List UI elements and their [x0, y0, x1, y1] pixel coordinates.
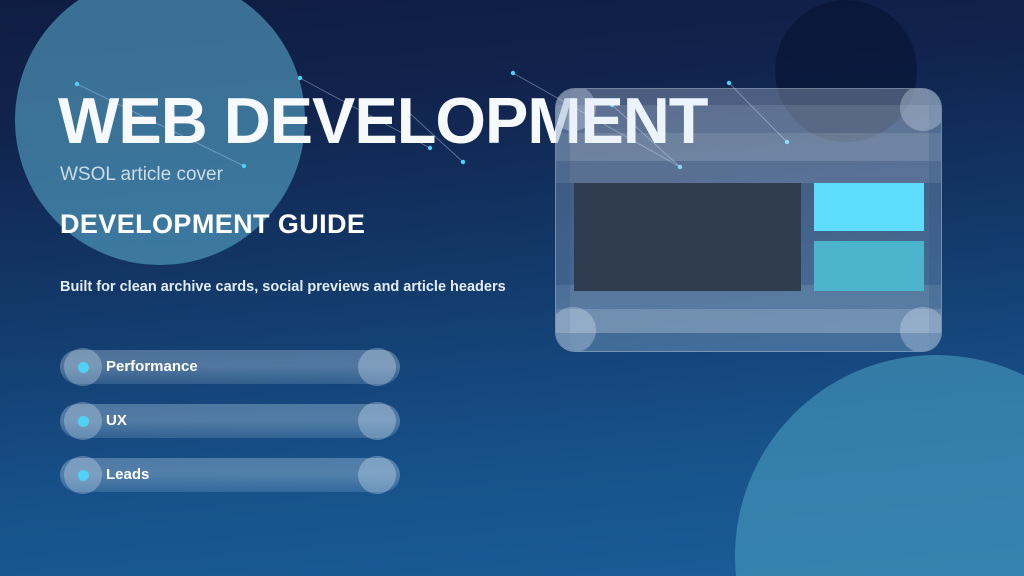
card-band	[556, 333, 942, 352]
card-band	[556, 161, 942, 183]
article-preview-card	[555, 88, 942, 352]
background-circle-bottom-right	[735, 355, 1024, 576]
cover-description: Built for clean archive cards, social pr…	[60, 279, 506, 295]
card-band	[556, 309, 942, 333]
connector-dot-icon	[511, 71, 515, 75]
pill-endcap-icon	[358, 402, 396, 440]
pill-label: UX	[106, 412, 127, 429]
pill-status-dot-icon	[78, 470, 89, 481]
list-item[interactable]: UX	[60, 404, 400, 438]
pill-endcap-icon	[358, 456, 396, 494]
card-band	[556, 89, 942, 105]
card-band	[556, 105, 942, 133]
cover-subtitle: DEVELOPMENT GUIDE	[60, 209, 365, 240]
card-corner-dot-icon	[900, 88, 942, 131]
pill-status-dot-icon	[78, 362, 89, 373]
preview-block-dark	[574, 183, 801, 291]
card-corner-dot-icon	[900, 307, 942, 352]
list-item[interactable]: Leads	[60, 458, 400, 492]
pill-endcap-icon	[358, 348, 396, 386]
connector-dot-icon	[461, 160, 465, 164]
pill-label: Performance	[106, 358, 198, 375]
connector-dot-icon	[727, 81, 731, 85]
card-band	[556, 133, 942, 161]
preview-tile-cyan	[814, 183, 924, 231]
cover-canvas: WEB DEVELOPMENT WSOL article cover DEVEL…	[0, 0, 1024, 576]
preview-tile-teal	[814, 241, 924, 291]
cover-eyebrow: WSOL article cover	[60, 164, 223, 186]
list-item[interactable]: Performance	[60, 350, 400, 384]
pill-label: Leads	[106, 466, 149, 483]
feature-pill-list: Performance UX Leads	[60, 350, 400, 512]
pill-status-dot-icon	[78, 416, 89, 427]
card-corner-dot-icon	[555, 307, 596, 352]
